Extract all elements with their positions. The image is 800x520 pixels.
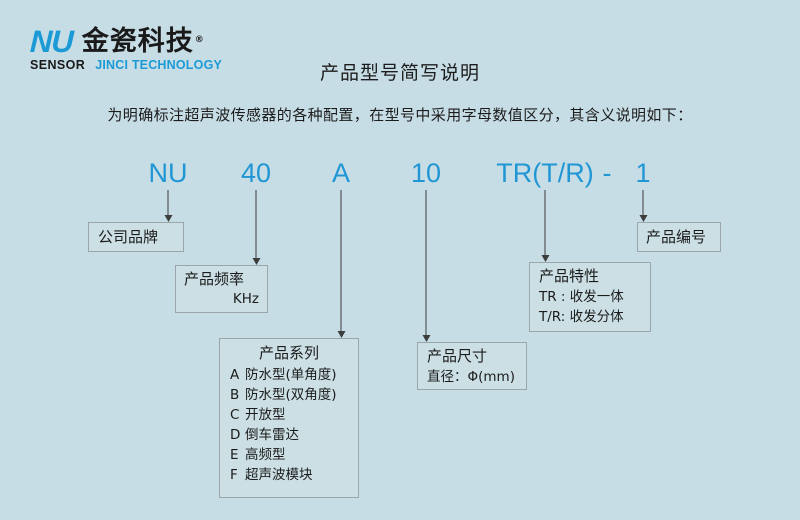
arrow-to-number — [639, 190, 648, 222]
box-product-number-title: 产品编号 — [646, 227, 712, 248]
arrow-to-characteristic — [541, 190, 550, 262]
series-item-a: A防水型(单角度) — [230, 365, 348, 385]
box-product-characteristic: 产品特性 TR : 收发一体 T/R: 收发分体 — [529, 262, 651, 332]
intro-paragraph: 为明确标注超声波传感器的各种配置，在型号中采用字母数值区分，其含义说明如下： — [0, 104, 800, 125]
arrow-to-frequency — [252, 190, 261, 265]
model-token-frequency: 40 — [241, 160, 271, 187]
box-product-frequency-title: 产品频率 — [184, 269, 259, 290]
logo-chinese-text: 金瓷科技 — [82, 26, 194, 57]
box-product-frequency: 产品频率 KHz — [175, 265, 268, 313]
series-item-c: C开放型 — [230, 405, 348, 425]
series-label-f: 超声波模块 — [245, 467, 313, 483]
series-item-b: B防水型(双角度) — [230, 385, 348, 405]
series-item-f: F超声波模块 — [230, 465, 348, 485]
series-item-e: E高频型 — [230, 445, 348, 465]
arrow-to-brand — [164, 190, 173, 222]
model-token-brand: NU — [149, 160, 188, 187]
model-token-characteristic: TR(T/R) — [496, 160, 593, 187]
arrow-to-size — [422, 190, 431, 342]
registered-trademark-icon: ® — [195, 26, 205, 54]
logo-nu-mark: NU — [30, 28, 74, 56]
series-code-f: F — [230, 465, 245, 485]
box-product-series: 产品系列 A防水型(单角度) B防水型(双角度) C开放型 D倒车雷达 E高频型… — [219, 338, 359, 498]
arrow-to-series — [337, 190, 346, 338]
series-code-d: D — [230, 425, 245, 445]
page-title: 产品型号简写说明 — [0, 58, 800, 85]
box-company-brand: 公司品牌 — [88, 222, 184, 252]
series-code-a: A — [230, 365, 245, 385]
characteristic-line-tr: TR : 收发一体 — [539, 287, 641, 307]
box-product-characteristic-title: 产品特性 — [539, 266, 641, 287]
series-code-c: C — [230, 405, 245, 425]
series-code-b: B — [230, 385, 245, 405]
series-label-e: 高频型 — [245, 447, 286, 463]
box-product-frequency-unit: KHz — [184, 290, 259, 309]
box-product-series-title: 产品系列 — [230, 343, 348, 364]
box-product-number: 产品编号 — [637, 222, 721, 252]
characteristic-line-t-r: T/R: 收发分体 — [539, 307, 641, 327]
model-token-series: A — [332, 160, 350, 187]
diagram-canvas: NU 金瓷科技 ® SENSOR JINCI TECHNOLOGY 产品型号简写… — [0, 0, 800, 520]
box-company-brand-title: 公司品牌 — [98, 227, 174, 248]
series-label-d: 倒车雷达 — [245, 427, 299, 443]
series-item-d: D倒车雷达 — [230, 425, 348, 445]
box-product-size-detail: 直径：Φ(mm) — [427, 367, 517, 387]
logo-chinese-name: 金瓷科技 ® — [82, 28, 194, 56]
model-token-size: 10 — [411, 160, 441, 187]
series-label-b: 防水型(双角度) — [245, 387, 337, 403]
box-product-size-title: 产品尺寸 — [427, 346, 517, 367]
series-code-e: E — [230, 445, 245, 465]
logo-primary-row: NU 金瓷科技 ® — [30, 28, 194, 56]
series-label-a: 防水型(单角度) — [245, 367, 337, 383]
model-token-separator: - — [603, 160, 612, 187]
series-label-c: 开放型 — [245, 407, 286, 423]
model-token-number: 1 — [635, 160, 650, 187]
box-product-size: 产品尺寸 直径：Φ(mm) — [417, 342, 527, 390]
